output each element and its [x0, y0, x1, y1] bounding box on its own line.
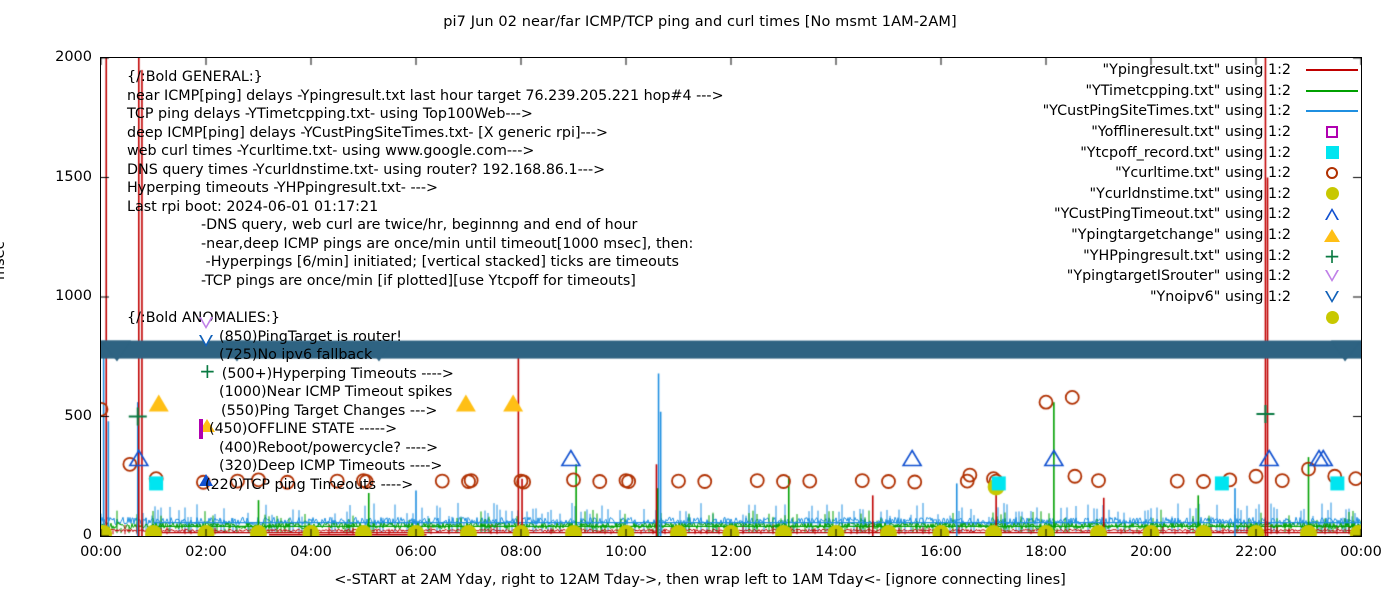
legend-item-marker — [1299, 146, 1365, 159]
general-line-text: deep ICMP[ping] delays -YCustPingSiteTim… — [127, 125, 608, 141]
legend-item-marker — [1299, 167, 1365, 179]
legend-item-label: "Ycurltime.txt" using 1:2 — [1115, 165, 1291, 181]
x-tick-label: 10:00 — [586, 544, 666, 560]
x-tick-label: 22:00 — [1216, 544, 1296, 560]
general-note: -TCP pings are once/min [if plotted][use… — [201, 272, 636, 290]
plus-icon: + — [199, 359, 216, 383]
legend-item[interactable]: "YCustPingSiteTimes.txt" using 1:2 — [985, 101, 1365, 122]
legend-line-swatch — [1306, 110, 1358, 112]
anomaly-item-text: (220)TCP ping Timeouts ----> — [205, 477, 413, 493]
anomaly-item: +(500+)Hyperping Timeouts ----> — [199, 365, 454, 383]
x-tick-label: 12:00 — [691, 544, 771, 560]
general-line: web curl times -Ycurltime.txt- using www… — [127, 142, 534, 160]
general-note: -Hyperpings [6/min] initiated; [vertical… — [201, 253, 679, 271]
x-axis-caption: <-START at 2AM Yday, right to 12AM Tday-… — [0, 572, 1400, 588]
x-tick-label: 18:00 — [1006, 544, 1086, 560]
page-title: pi7 Jun 02 near/far ICMP/TCP ping and cu… — [0, 14, 1400, 30]
general-line-text: Hyperping timeouts -YHPpingresult.txt- -… — [127, 180, 438, 196]
general-note-text: -Hyperpings [6/min] initiated; [vertical… — [201, 254, 679, 270]
circle-open-icon — [1326, 167, 1338, 179]
legend-item[interactable]: "YHPpingresult.txt" using 1:2+ — [985, 245, 1365, 266]
legend-item-marker — [1299, 126, 1365, 138]
legend-item-label: "YTimetcpping.txt" using 1:2 — [1085, 83, 1291, 99]
square-filled-icon — [1326, 146, 1339, 159]
legend-item-label: "YpingtargetISrouter" using 1:2 — [1067, 268, 1291, 284]
anomaly-item-text: (1000)Near ICMP Timeout spikes — [219, 384, 452, 400]
general-line-text: web curl times -Ycurltime.txt- using www… — [127, 143, 534, 159]
legend-item[interactable]: "Ycurltime.txt" using 1:2 — [985, 163, 1365, 184]
anomaly-item-text: (725)No ipv6 fallback — [219, 347, 372, 363]
legend-item[interactable]: "Ynoipv6" using 1:2 — [985, 287, 1365, 308]
anomaly-item: (850)PingTarget is router! — [199, 328, 402, 346]
legend-item-label: "Ypingtargetchange" using 1:2 — [1071, 227, 1291, 243]
legend-item[interactable]: "Ytcpoff_record.txt" using 1:2 — [985, 142, 1365, 163]
y-axis-label: msec — [0, 241, 8, 280]
legend-item-label: "YCustPingTimeout.txt" using 1:2 — [1054, 206, 1291, 222]
anomaly-item: (450)OFFLINE STATE -----> — [199, 420, 397, 438]
square-open-icon — [199, 419, 203, 439]
dot-filled-icon — [1326, 311, 1339, 324]
legend-item-marker — [1299, 110, 1365, 112]
legend-item[interactable]: "Yofflineresult.txt" using 1:2 — [985, 122, 1365, 143]
general-note: -near,deep ICMP pings are once/min until… — [201, 235, 693, 253]
legend-item-label: "Ycurldnstime.txt" using 1:2 — [1090, 186, 1291, 202]
legend-item[interactable]: "YTimetcpping.txt" using 1:2 — [985, 81, 1365, 102]
general-line: DNS query times -Ycurldnstime.txt- using… — [127, 161, 605, 179]
anomaly-item-text: (500+)Hyperping Timeouts ----> — [222, 366, 454, 382]
x-tick-label: 00:00 — [1321, 544, 1400, 560]
legend-item-label: "Ynoipv6" using 1:2 — [1150, 289, 1291, 305]
general-note-text: -near,deep ICMP pings are once/min until… — [201, 236, 693, 252]
dot-filled-icon — [1326, 187, 1339, 200]
x-tick-label: 02:00 — [166, 544, 246, 560]
legend-line-swatch — [1306, 90, 1358, 92]
legend-item-label: "Ytcpoff_record.txt" using 1:2 — [1080, 145, 1291, 161]
legend-item[interactable]: "Ypingresult.txt" using 1:2 — [985, 60, 1365, 81]
legend-item-marker — [1299, 270, 1365, 282]
legend: "Ypingresult.txt" using 1:2"YTimetcpping… — [985, 60, 1365, 328]
general-line-text: TCP ping delays -YTimetcpping.txt- using… — [127, 106, 533, 122]
anomaly-item: (220)TCP ping Timeouts ----> — [199, 476, 413, 494]
anomaly-item-text: (400)Reboot/powercycle? ----> — [219, 440, 438, 456]
legend-item-marker — [1299, 69, 1365, 71]
general-line-text: near ICMP[ping] delays -Ypingresult.txt … — [127, 88, 724, 104]
general-line-text: DNS query times -Ycurldnstime.txt- using… — [127, 162, 605, 178]
general-line: Last rpi boot: 2024-06-01 01:17:21 — [127, 198, 378, 216]
legend-item[interactable]: "Ypingtargetchange" using 1:2 — [985, 225, 1365, 246]
legend-item-marker — [1299, 187, 1365, 200]
general-line: deep ICMP[ping] delays -YCustPingSiteTim… — [127, 124, 608, 142]
legend-item-marker: + — [1299, 250, 1365, 262]
general-note-text: -DNS query, web curl are twice/hr, begin… — [201, 217, 637, 233]
legend-item-marker — [1299, 229, 1365, 242]
y-tick-label: 1500 — [0, 169, 92, 185]
general-note-text: -TCP pings are once/min [if plotted][use… — [201, 273, 636, 289]
anomaly-item-text: (850)PingTarget is router! — [219, 329, 402, 345]
legend-item-label: "Ypingresult.txt" using 1:2 — [1103, 62, 1291, 78]
general-heading: {/:Bold GENERAL:} — [127, 68, 263, 86]
square-open-icon — [1326, 126, 1338, 138]
triangle-up-filled-icon — [1324, 229, 1340, 242]
x-tick-label: 06:00 — [376, 544, 456, 560]
y-tick-label: 0 — [0, 527, 92, 543]
x-tick-label: 08:00 — [481, 544, 561, 560]
anomaly-item: (725)No ipv6 fallback — [199, 346, 372, 364]
anomaly-item: (1000)Near ICMP Timeout spikes — [199, 383, 452, 401]
y-tick-label: 2000 — [0, 49, 92, 65]
general-line: TCP ping delays -YTimetcpping.txt- using… — [127, 105, 533, 123]
general-heading-text: {/:Bold GENERAL:} — [127, 69, 263, 85]
legend-item[interactable]: "Ycurldnstime.txt" using 1:2 — [985, 184, 1365, 205]
legend-item[interactable]: "YCustPingTimeout.txt" using 1:2 — [985, 204, 1365, 225]
x-tick-label: 00:00 — [61, 544, 141, 560]
legend-line-swatch — [1306, 69, 1358, 71]
x-tick-label: 04:00 — [271, 544, 351, 560]
anomaly-item: (320)Deep ICMP Timeouts ----> — [199, 457, 442, 475]
general-line: Hyperping timeouts -YHPpingresult.txt- -… — [127, 179, 438, 197]
legend-item-label: "YHPpingresult.txt" using 1:2 — [1083, 248, 1291, 264]
anomaly-item-text: (320)Deep ICMP Timeouts ----> — [219, 458, 442, 474]
anomaly-item-text: (450)OFFLINE STATE -----> — [209, 421, 397, 437]
general-line-text: Last rpi boot: 2024-06-01 01:17:21 — [127, 199, 378, 215]
general-note: -DNS query, web curl are twice/hr, begin… — [201, 216, 637, 234]
legend-item-marker — [1299, 291, 1365, 303]
legend-item-label: "YCustPingSiteTimes.txt" using 1:2 — [1043, 103, 1291, 119]
anomaly-item: (550)Ping Target Changes ---> — [199, 402, 437, 420]
triangle-down-blue-icon — [1325, 291, 1339, 303]
anomaly-item-text: (550)Ping Target Changes ---> — [221, 403, 437, 419]
legend-item-label: "Yofflineresult.txt" using 1:2 — [1091, 124, 1291, 140]
general-line: near ICMP[ping] delays -Ypingresult.txt … — [127, 87, 724, 105]
y-tick-label: 500 — [0, 408, 92, 424]
legend-item-marker — [1299, 90, 1365, 92]
x-tick-label: 16:00 — [901, 544, 981, 560]
plus-icon: + — [1324, 250, 1341, 262]
y-tick-label: 1000 — [0, 288, 92, 304]
x-tick-label: 20:00 — [1111, 544, 1191, 560]
triangle-up-open-icon — [1325, 208, 1339, 220]
legend-item[interactable]: "YpingtargetISrouter" using 1:2 — [985, 266, 1365, 287]
legend-item-marker — [1299, 311, 1365, 324]
legend-item-marker — [1299, 208, 1365, 220]
legend-item[interactable] — [985, 307, 1365, 328]
triangle-down-violet-icon — [1325, 270, 1339, 282]
anomaly-item: (400)Reboot/powercycle? ----> — [199, 439, 438, 457]
x-tick-label: 14:00 — [796, 544, 876, 560]
